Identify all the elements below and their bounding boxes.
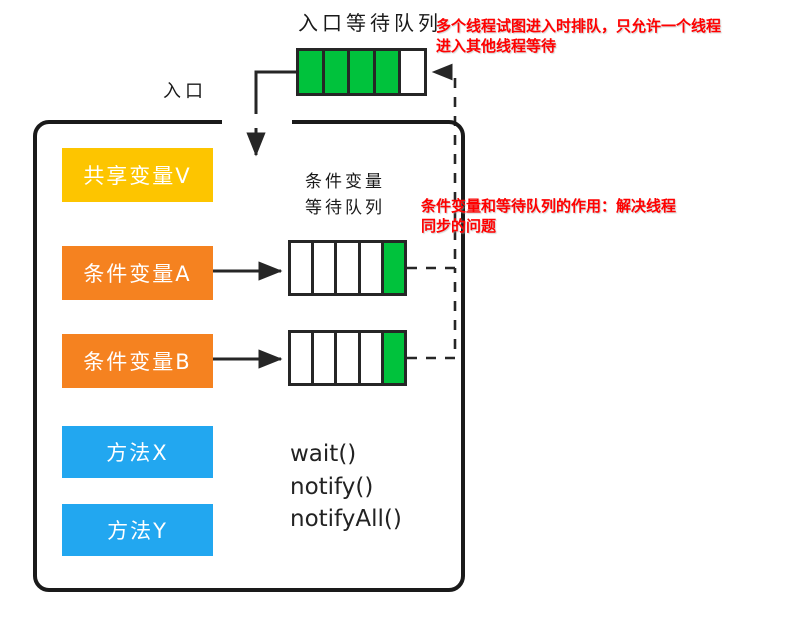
queue-cell [361, 333, 384, 383]
monitor-methods-label: wait() notify() notifyAll() [290, 438, 402, 536]
queue-cell [314, 333, 337, 383]
method-y-box: 方法Y [62, 504, 213, 556]
queue-cell [291, 333, 314, 383]
condition-variable-b-box: 条件变量B [62, 334, 213, 388]
queue-cell [337, 333, 360, 383]
entry-wait-queue [296, 48, 427, 96]
condition-a-wait-queue [288, 240, 407, 296]
queue-cell [314, 243, 337, 293]
entry-annotation-text: 多个线程试图进入时排队，只允许一个线程 进入其他线程等待 [436, 16, 721, 57]
queue-cell [337, 243, 360, 293]
queue-cell [299, 51, 325, 93]
condition-b-wait-queue [288, 330, 407, 386]
queue-cell [401, 51, 424, 93]
diagram-canvas: 共享变量V 条件变量A 条件变量B 方法X 方法Y 入口等待队列 入口 条件变量… [0, 0, 799, 629]
method-x-box: 方法X [62, 426, 213, 478]
condition-variable-a-box: 条件变量A [62, 246, 213, 300]
entry-label: 入口 [163, 80, 207, 104]
queue-cell [376, 51, 402, 93]
condition-annotation-text: 条件变量和等待队列的作用：解决线程 同步的问题 [421, 196, 676, 237]
condition-queue-label: 条件变量 等待队列 [305, 170, 385, 221]
queue-cell [350, 51, 376, 93]
queue-cell [384, 243, 404, 293]
entry-queue-label: 入口等待队列 [298, 10, 442, 37]
queue-cell [384, 333, 404, 383]
monitor-entrance-gap [222, 114, 292, 128]
shared-variable-box: 共享变量V [62, 148, 213, 202]
queue-cell [291, 243, 314, 293]
queue-cell [325, 51, 351, 93]
queue-cell [361, 243, 384, 293]
